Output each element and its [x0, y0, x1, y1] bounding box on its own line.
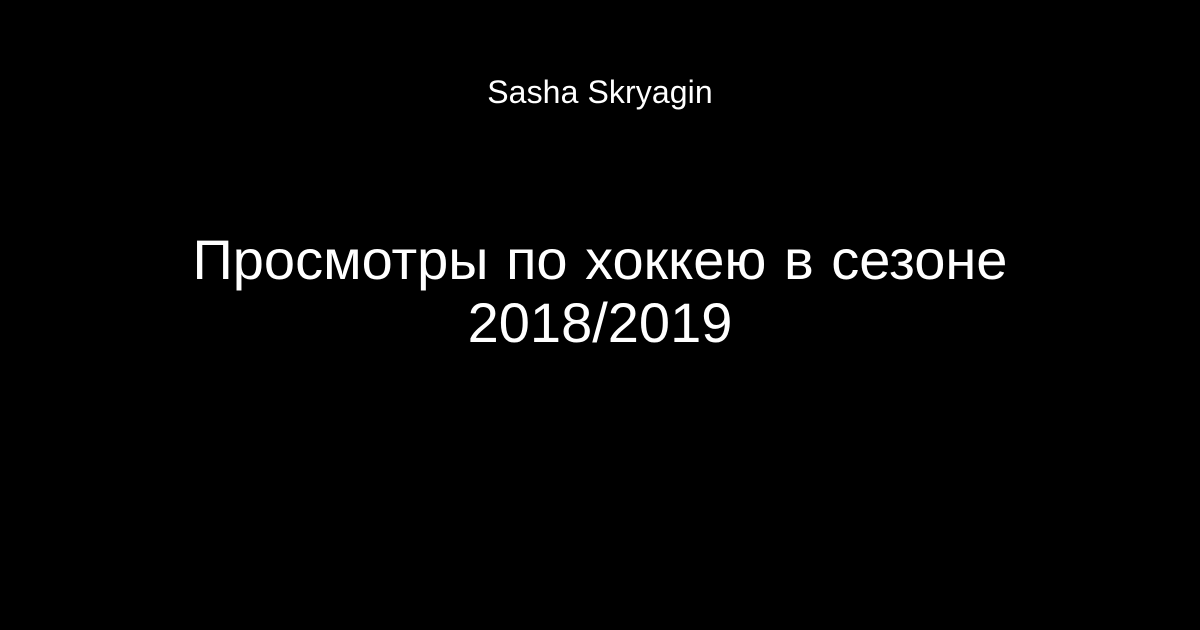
- page-title: Просмотры по хоккею в сезоне 2018/2019: [160, 228, 1040, 354]
- title-card: Sasha Skryagin Просмотры по хоккею в сез…: [0, 0, 1200, 630]
- page-title-text: Просмотры по хоккею в сезоне 2018/2019: [160, 228, 1040, 354]
- author-name: Sasha Skryagin: [487, 76, 713, 108]
- byline: Sasha Skryagin: [0, 76, 1200, 108]
- empty-lower-region: [0, 380, 1200, 630]
